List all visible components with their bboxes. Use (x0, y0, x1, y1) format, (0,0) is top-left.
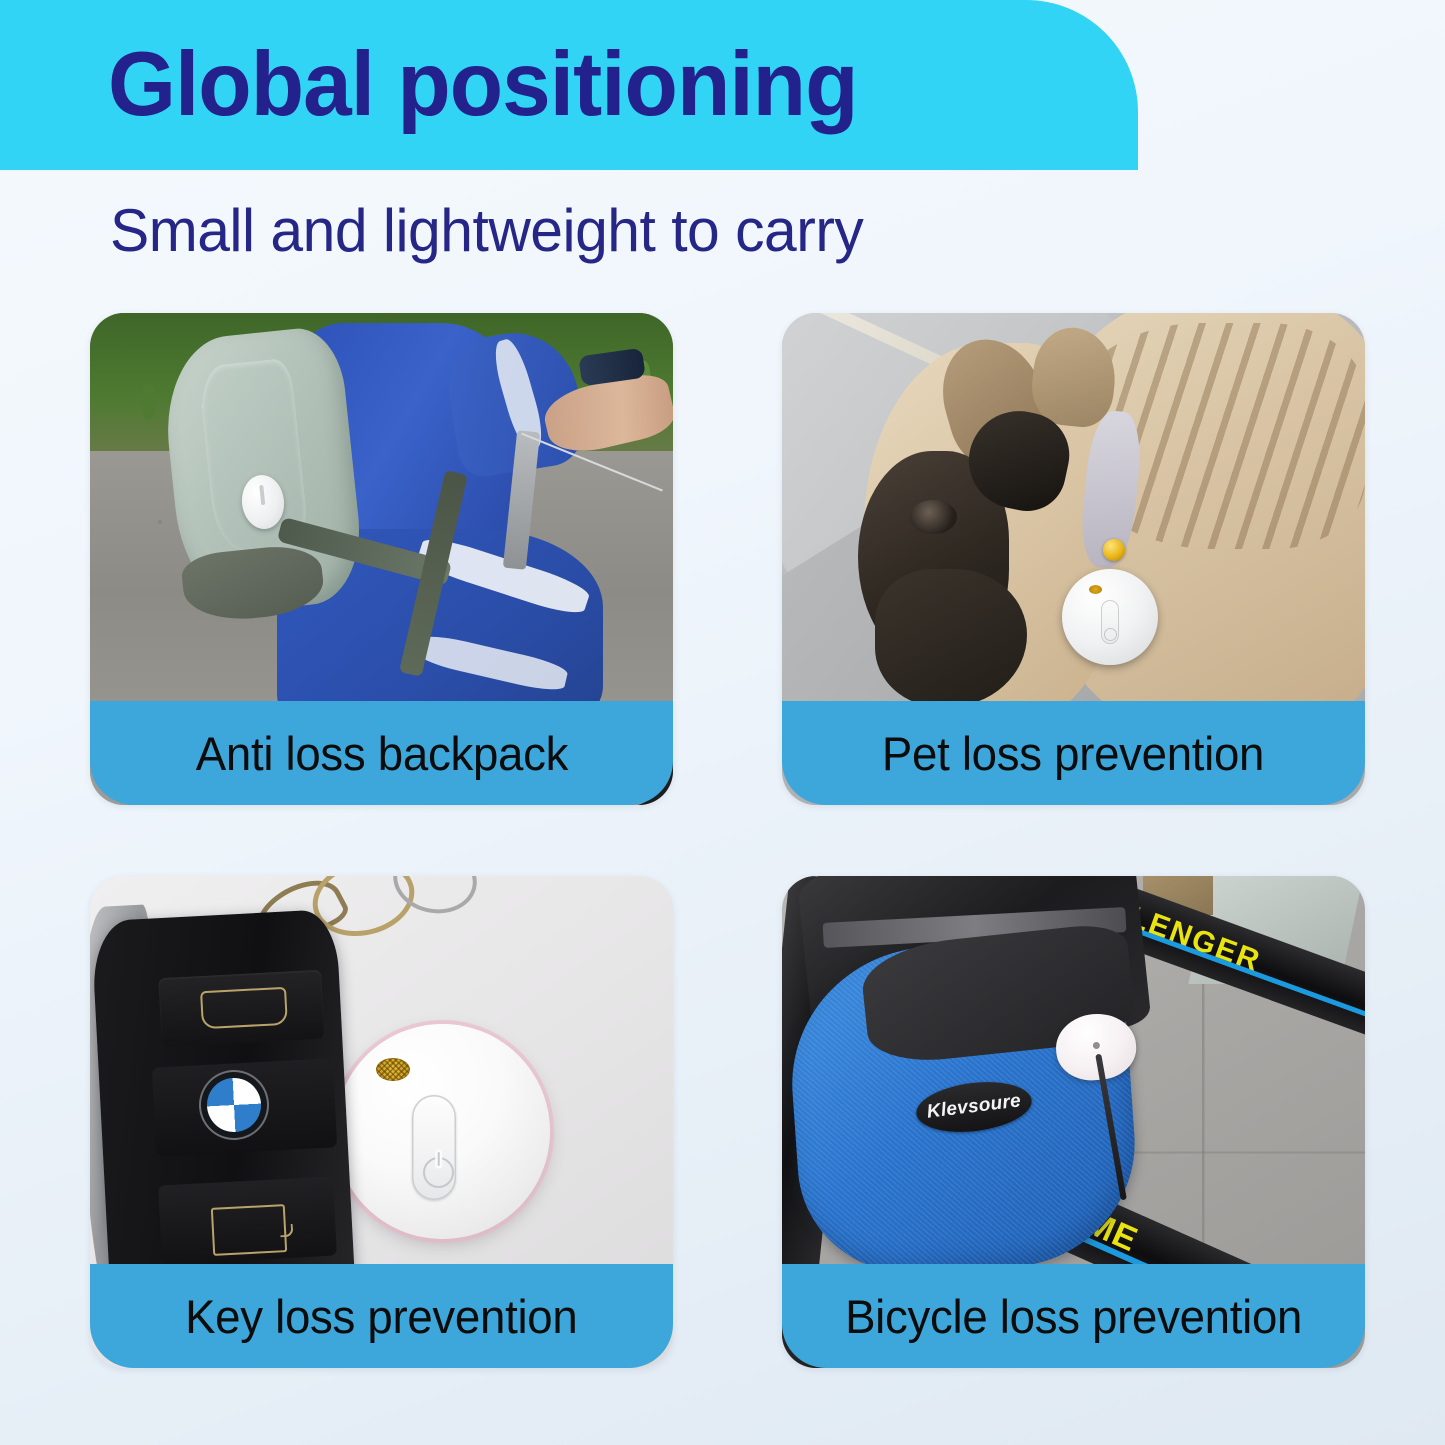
caption-band: Pet loss prevention (782, 701, 1365, 805)
caption-text: Anti loss backpack (195, 726, 567, 781)
page-subtitle: Small and lightweight to carry (110, 196, 863, 265)
infographic-page: Global positioning Small and lightweight… (0, 0, 1445, 1445)
bag-brand-text: Klevsoure (926, 1090, 1023, 1123)
power-icon (423, 1157, 454, 1188)
collar-bell (1103, 539, 1125, 561)
use-case-grid: Sport Anti loss backpack (90, 313, 1365, 1368)
card-bicycle-loss-prevention[interactable]: LENGER ME Klevsoure (782, 876, 1365, 1368)
dog-eye (910, 500, 957, 534)
caption-text: Pet loss prevention (882, 726, 1264, 781)
caption-band: Bicycle loss prevention (782, 1264, 1365, 1368)
gps-tracker-device (335, 1024, 550, 1239)
tracker-speaker-grille (376, 1058, 410, 1081)
gps-tracker-device (1062, 569, 1158, 665)
caption-text: Bicycle loss prevention (845, 1289, 1302, 1344)
trunk-icon (200, 987, 288, 1030)
card-anti-loss-backpack[interactable]: Sport Anti loss backpack (90, 313, 673, 805)
lock-icon (211, 1204, 287, 1256)
tracker-speaker-grille (1089, 585, 1102, 594)
caption-band: Anti loss backpack (90, 701, 673, 805)
card-key-loss-prevention[interactable]: Key loss prevention (90, 876, 673, 1368)
page-title: Global positioning (108, 33, 857, 137)
caption-text: Key loss prevention (185, 1289, 577, 1344)
caption-band: Key loss prevention (90, 1264, 673, 1368)
header-banner: Global positioning (0, 0, 1138, 170)
card-pet-loss-prevention[interactable]: Pet loss prevention (782, 313, 1365, 805)
